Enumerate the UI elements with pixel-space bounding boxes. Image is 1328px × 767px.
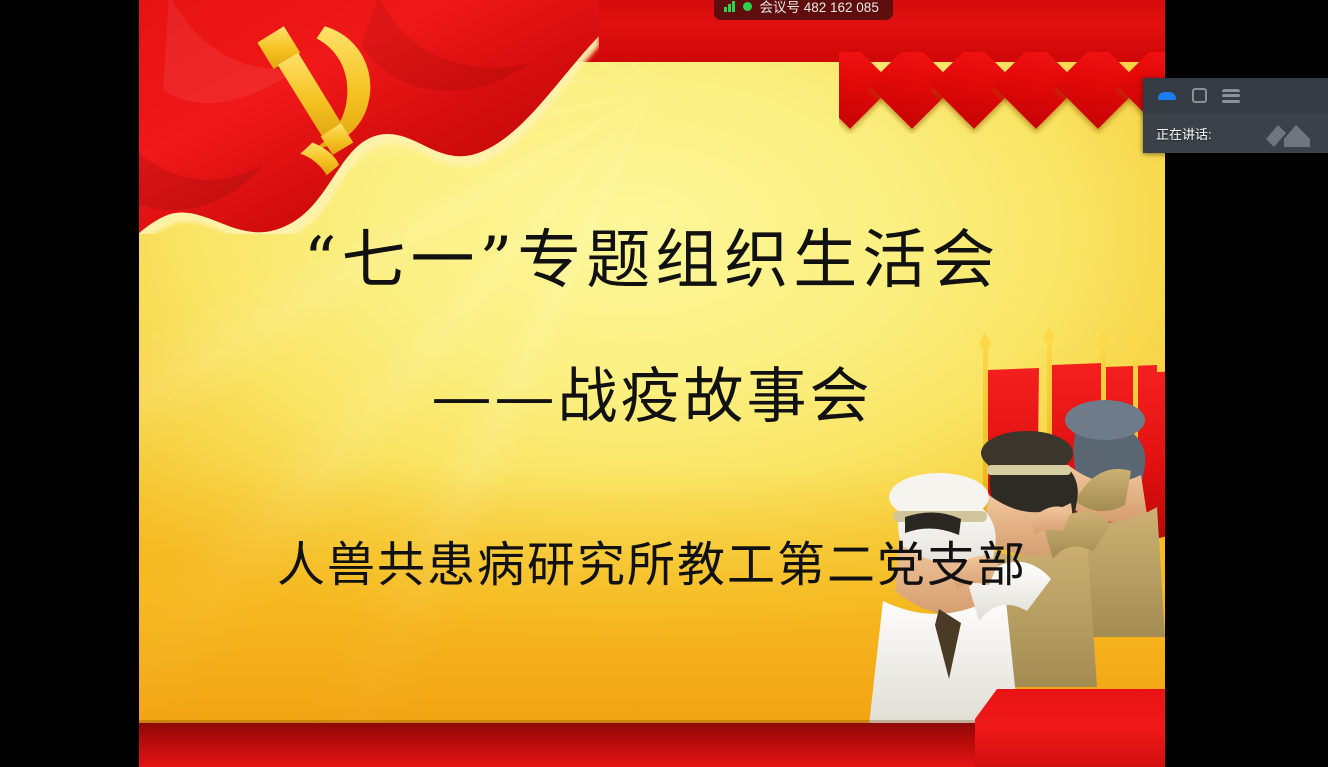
diamond-decoration-row [839,52,1165,134]
zoom-panel-toolbar [1143,78,1328,113]
saluting-soldiers-photo [865,305,1165,725]
hamburger-menu-icon [1222,89,1240,103]
maximize-icon [1192,88,1207,103]
meeting-id-label: 会议号 482 162 085 [760,0,879,16]
shared-screen-slide: “七一”专题组织生活会 ——战疫故事会 人兽共患病研究所教工第二党支部 会议号 … [139,0,1165,767]
screen-root: “七一”专题组织生活会 ——战疫故事会 人兽共患病研究所教工第二党支部 会议号 … [0,0,1328,767]
bottom-red-notch [975,689,1165,767]
red-flag-banner [139,0,599,234]
zoom-floating-panel[interactable]: 正在讲话: [1143,78,1328,153]
zoom-logo-icon [1260,117,1318,149]
active-speaker-label: 正在讲话: [1156,124,1212,143]
minimize-button[interactable] [1156,85,1178,107]
menu-button[interactable] [1220,85,1242,107]
meeting-id-bar[interactable]: 会议号 482 162 085 [714,0,893,20]
maximize-button[interactable] [1188,85,1210,107]
minimize-icon [1158,92,1176,100]
signal-bars-icon [724,1,735,12]
zoom-panel-body: 正在讲话: [1143,113,1328,153]
green-status-dot-icon [743,2,752,11]
